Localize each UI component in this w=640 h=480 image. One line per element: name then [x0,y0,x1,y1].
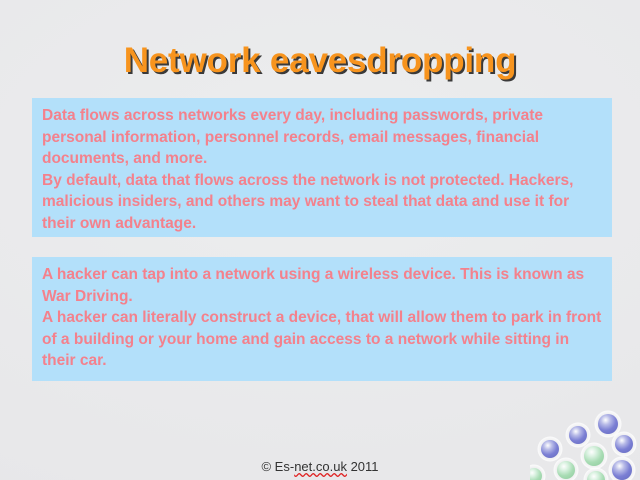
sphere-blue [541,440,559,458]
sphere-blue [569,426,587,444]
sphere-blue [615,435,633,453]
sphere-halo [595,411,622,438]
page-title: Network eavesdropping [0,41,640,81]
content-paragraph: A hacker can tap into a network using a … [42,264,602,307]
footer-prefix: Es- [271,459,294,474]
footer-copyright: © Es-net.co.uk 2011 [0,459,640,474]
footer-domain: net.co.uk [294,459,347,474]
sphere-blue [598,414,618,434]
content-paragraph: Data flows across networks every day, in… [42,105,602,170]
content-paragraph: By default, data that flows across the n… [42,170,602,235]
footer-year: 2011 [347,459,379,474]
slide-canvas: Network eavesdropping Data flows across … [0,0,640,480]
content-box-secondary: A hacker can tap into a network using a … [32,257,612,381]
sphere-halo [566,423,591,448]
sphere-halo [612,432,637,457]
content-box-primary: Data flows across networks every day, in… [32,98,612,237]
sphere-halo [538,437,563,462]
content-paragraph: A hacker can literally construct a devic… [42,307,602,372]
copyright-icon: © [261,459,271,474]
